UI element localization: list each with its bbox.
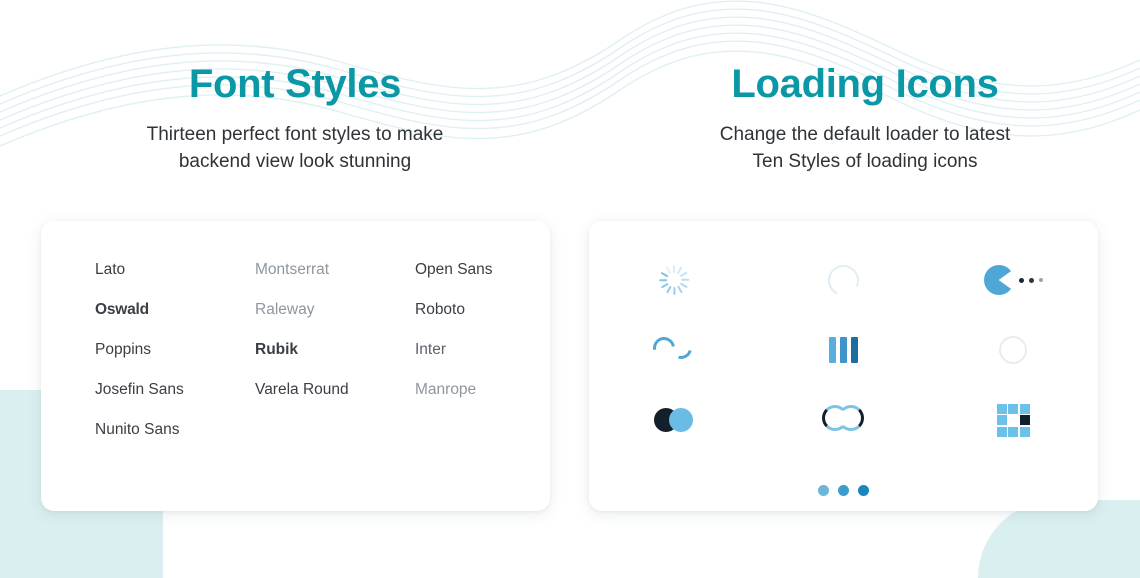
- overlapping-circles-icon: [654, 408, 694, 432]
- cell-6: [1020, 415, 1030, 425]
- font-item-montserrat[interactable]: Montserrat: [255, 261, 415, 279]
- font-styles-subtitle: Thirteen perfect font styles to make bac…: [0, 122, 590, 176]
- loader-vertical-bars[interactable]: [759, 315, 929, 385]
- loader-overlapping-circles[interactable]: [589, 385, 759, 455]
- font-styles-card: Lato Montserrat Open Sans Oswald Raleway…: [41, 221, 550, 511]
- loader-three-dots[interactable]: [589, 455, 1098, 525]
- dot-2: [838, 485, 849, 496]
- cell-5: [1008, 415, 1018, 425]
- font-item-open-sans[interactable]: Open Sans: [415, 261, 525, 279]
- cell-4: [997, 415, 1007, 425]
- split-brackets-icon: [826, 405, 860, 435]
- pacman-dot-3: [1039, 278, 1043, 282]
- cell-8: [1008, 427, 1018, 437]
- cell-9: [1020, 427, 1030, 437]
- loader-grid-blocks[interactable]: [928, 385, 1098, 455]
- vertical-bars-icon: [829, 337, 858, 363]
- loading-icons-subtitle: Change the default loader to latest Ten …: [590, 122, 1140, 176]
- loader-ring[interactable]: [928, 315, 1098, 385]
- pacman-dot-1: [1019, 278, 1024, 283]
- font-styles-title: Font Styles: [0, 62, 590, 107]
- loading-icons-title: Loading Icons: [590, 62, 1140, 107]
- ring-icon: [999, 336, 1027, 364]
- dot-3: [858, 485, 869, 496]
- circle-light: [669, 408, 693, 432]
- loader-spinner-bars[interactable]: [589, 245, 759, 315]
- bracket-right: [838, 405, 864, 431]
- loader-arc-circle[interactable]: [759, 245, 929, 315]
- grid-blocks-icon: [997, 404, 1030, 437]
- pacman-shape: [984, 265, 1014, 295]
- three-dots-icon: [818, 485, 869, 496]
- bar-1: [829, 337, 836, 363]
- curve-right: [666, 333, 696, 363]
- font-item-manrope[interactable]: Manrope: [415, 381, 525, 399]
- loading-icons-card: [589, 221, 1098, 511]
- double-curve-icon: [653, 337, 695, 363]
- spinner-bars-icon: [659, 265, 689, 295]
- font-item-raleway[interactable]: Raleway: [255, 301, 415, 319]
- dot-1: [818, 485, 829, 496]
- font-item-inter[interactable]: Inter: [415, 341, 525, 359]
- font-item-oswald[interactable]: Oswald: [95, 301, 255, 319]
- font-item-poppins[interactable]: Poppins: [95, 341, 255, 359]
- loader-double-curve[interactable]: [589, 315, 759, 385]
- loader-list: [589, 245, 1098, 525]
- loader-split-brackets[interactable]: [759, 385, 929, 455]
- loading-icons-section: Loading Icons Change the default loader …: [590, 0, 1140, 176]
- font-item-nunito-sans[interactable]: Nunito Sans: [95, 421, 255, 439]
- cell-3: [1020, 404, 1030, 414]
- font-item-varela-round[interactable]: Varela Round: [255, 381, 415, 399]
- cell-2: [1008, 404, 1018, 414]
- pacman-dot-2: [1029, 278, 1034, 283]
- pacman-dots-icon: [984, 265, 1043, 295]
- bar-3: [851, 337, 858, 363]
- loader-pacman-dots[interactable]: [928, 245, 1098, 315]
- arc-circle-icon: [824, 260, 864, 300]
- font-list: Lato Montserrat Open Sans Oswald Raleway…: [95, 261, 525, 439]
- page-root: Font Styles Thirteen perfect font styles…: [0, 0, 1140, 578]
- cell-7: [997, 427, 1007, 437]
- font-item-lato[interactable]: Lato: [95, 261, 255, 279]
- bar-2: [840, 337, 847, 363]
- font-item-josefin-sans[interactable]: Josefin Sans: [95, 381, 255, 399]
- font-styles-section: Font Styles Thirteen perfect font styles…: [0, 0, 590, 176]
- cell-1: [997, 404, 1007, 414]
- font-item-rubik[interactable]: Rubik: [255, 341, 415, 359]
- font-item-roboto[interactable]: Roboto: [415, 301, 525, 319]
